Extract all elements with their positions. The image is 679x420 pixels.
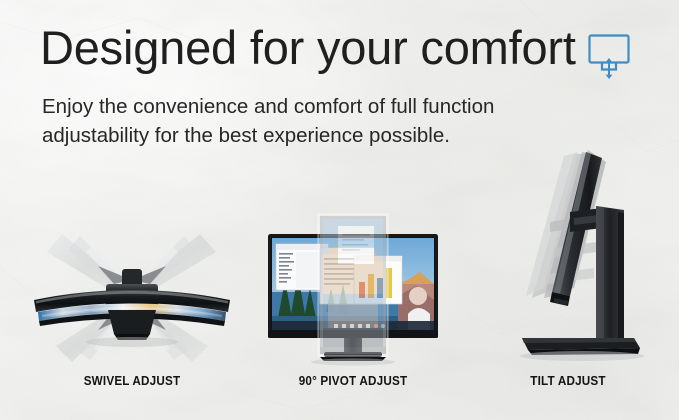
comfort-feature-banner: Designed for your comfort Enjoy the conv… bbox=[0, 0, 679, 420]
page-subtitle: Enjoy the convenience and comfort of ful… bbox=[42, 92, 522, 150]
feature-image-pivot bbox=[258, 208, 448, 368]
caption-pivot: 90° PIVOT ADJUST bbox=[263, 373, 443, 388]
subtitle-line-1: Enjoy the convenience and comfort of ful… bbox=[42, 92, 522, 121]
feature-image-swivel bbox=[22, 222, 242, 367]
feature-image-tilt bbox=[478, 148, 658, 368]
page-title: Designed for your comfort bbox=[40, 24, 576, 71]
subtitle-line-2: adjustability for the best experience po… bbox=[42, 121, 522, 150]
caption-swivel: SWIVEL ADJUST bbox=[33, 373, 231, 388]
height-adjust-monitor-icon bbox=[586, 32, 632, 80]
caption-tilt: TILT ADJUST bbox=[478, 373, 658, 388]
